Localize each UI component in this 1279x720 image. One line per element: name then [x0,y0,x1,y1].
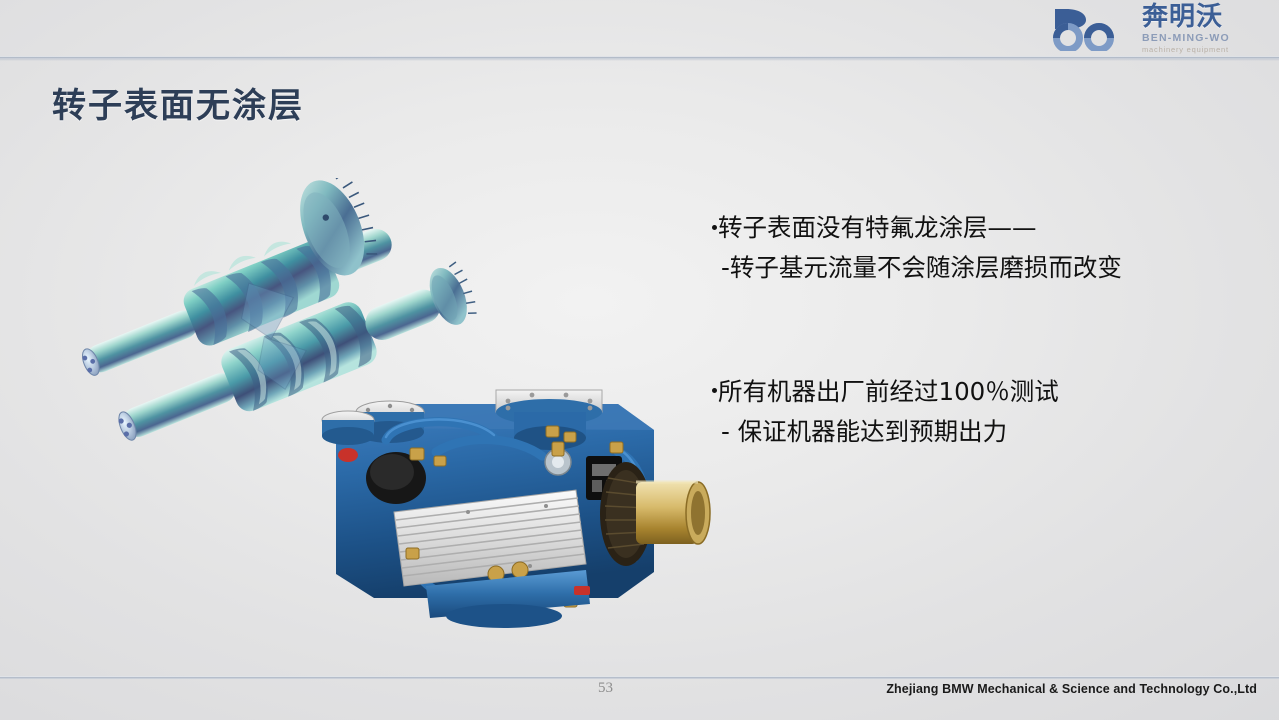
logo-romanized-name: BEN-MING-WO [1142,32,1230,45]
header-divider [0,56,1279,59]
footer-divider [0,676,1279,679]
bullet-main-text: 所有机器出厂前经过100％测试 [718,377,1059,406]
bullet-main-line: 转子表面没有特氟龙涂层—— [712,208,1252,248]
bo-monogram-icon [1049,7,1135,51]
logo-text-block: 奔明沃 BEN-MING-WO machinery equipment [1142,7,1230,51]
logo-tagline: machinery equipment [1142,45,1230,54]
footer-company-name: Zhejiang BMW Mechanical & Science and Te… [886,682,1257,696]
bullet-group: 所有机器出厂前经过100％测试 - 保证机器能达到预期出力 [712,372,1252,452]
bullet-sub-line: -转子基元流量不会随涂层磨损而改变 [712,248,1252,288]
bullet-main-line: 所有机器出厂前经过100％测试 [712,372,1252,412]
bullet-dot-icon [712,388,717,393]
bullet-main-text: 转子表面没有特氟龙涂层—— [718,213,1037,242]
bullet-sub-line: - 保证机器能达到预期出力 [712,412,1252,452]
logo-chinese-name: 奔明沃 [1142,4,1230,31]
slide-title: 转子表面无涂层 [52,78,304,127]
bullet-dot-icon [712,225,717,230]
company-logo: 奔明沃 BEN-MING-WO machinery equipment [1049,4,1267,54]
bullet-content: 转子表面没有特氟龙涂层—— -转子基元流量不会随涂层磨损而改变 所有机器出厂前经… [712,208,1252,452]
bullet-group: 转子表面没有特氟龙涂层—— -转子基元流量不会随涂层磨损而改变 [712,208,1252,288]
screw-compressor-unit-photo [318,360,718,632]
page-number: 53 [598,680,613,697]
